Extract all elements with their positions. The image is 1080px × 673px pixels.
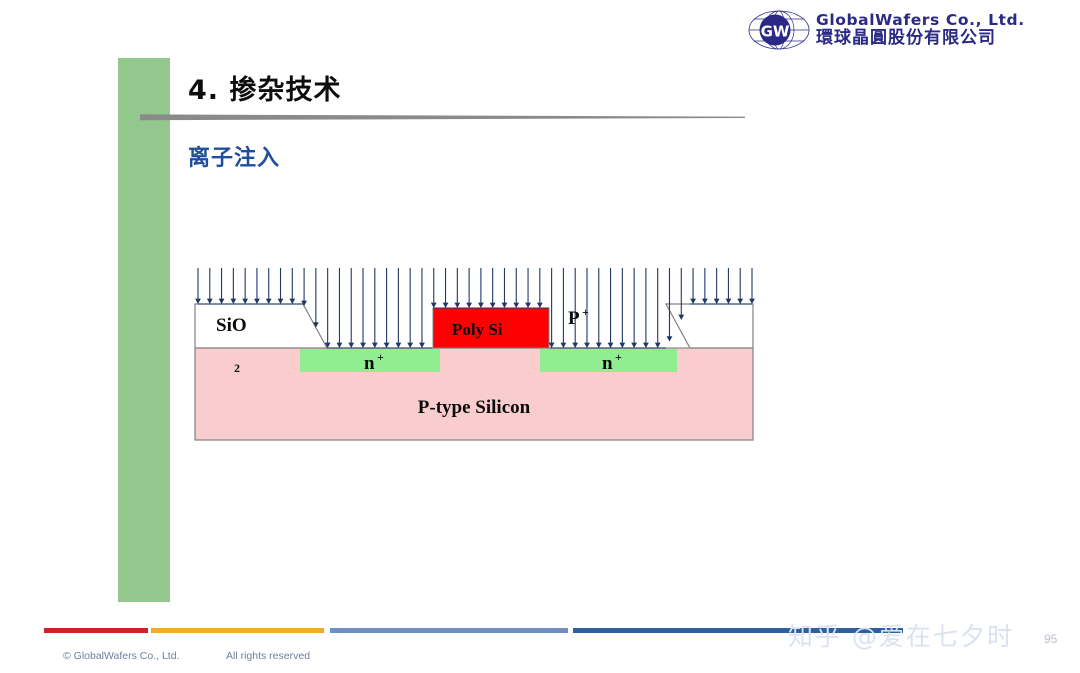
ion-implantation-diagram: SiO 2 Poly Si P + n + n + P-type Silicon <box>190 258 765 453</box>
label-ndoped-left-sup: + <box>377 350 384 364</box>
ion-beam-arrowhead <box>230 299 236 304</box>
ion-beam-arrowhead <box>219 299 225 304</box>
page-number: 95 <box>1044 632 1057 646</box>
logo-name-en: GlobalWafers Co., Ltd. <box>816 12 1025 28</box>
light-blue-bar <box>330 628 568 633</box>
ion-beam-arrowhead <box>714 299 720 304</box>
accent-side-bar <box>118 58 170 602</box>
ion-beam-arrowhead <box>702 299 708 304</box>
ion-beam-arrowhead <box>737 299 743 304</box>
label-implant-species-sup: + <box>582 305 589 319</box>
title-divider <box>140 108 745 115</box>
ion-beam-arrowhead <box>749 299 755 304</box>
red-bar <box>44 628 148 633</box>
company-logo: GW GlobalWafers Co., Ltd. 環球晶圓股份有限公司 <box>748 6 1048 54</box>
oxide-block-left <box>195 304 327 348</box>
footer-rights: All rights reserved <box>226 650 310 662</box>
ion-beam-arrowhead <box>242 299 248 304</box>
ion-beam-arrowhead <box>266 299 272 304</box>
label-poly-si: Poly Si <box>452 320 503 339</box>
svg-text:GW: GW <box>761 23 790 41</box>
label-ndoped-right-sup: + <box>615 350 622 364</box>
label-oxide-subscript: 2 <box>234 361 240 375</box>
page-subtitle: 离子注入 <box>188 140 280 172</box>
ion-beam-arrowhead <box>289 299 295 304</box>
orange-bar <box>151 628 324 633</box>
ion-beam-arrowhead <box>254 299 260 304</box>
label-implant-species: P <box>568 308 580 329</box>
label-substrate: P-type Silicon <box>418 397 531 418</box>
logo-name-cn: 環球晶圓股份有限公司 <box>816 30 1025 48</box>
ion-beam-arrowhead <box>726 299 732 304</box>
page-title: 4. 掺杂技术 <box>188 68 341 107</box>
ion-beam-arrowhead <box>207 299 213 304</box>
label-ndoped-right: n <box>602 353 613 374</box>
globe-gw-icon: GW <box>748 8 810 52</box>
zhihu-watermark: 知乎 @爱在七夕时 <box>788 617 1014 653</box>
ion-beam-arrowhead <box>278 299 284 304</box>
ion-beam-arrowhead <box>195 299 201 304</box>
label-oxide: SiO <box>216 315 247 336</box>
ion-beam-arrowhead <box>690 299 696 304</box>
footer-copyright: © GlobalWafers Co., Ltd. <box>63 650 179 662</box>
label-ndoped-left: n <box>364 353 375 374</box>
